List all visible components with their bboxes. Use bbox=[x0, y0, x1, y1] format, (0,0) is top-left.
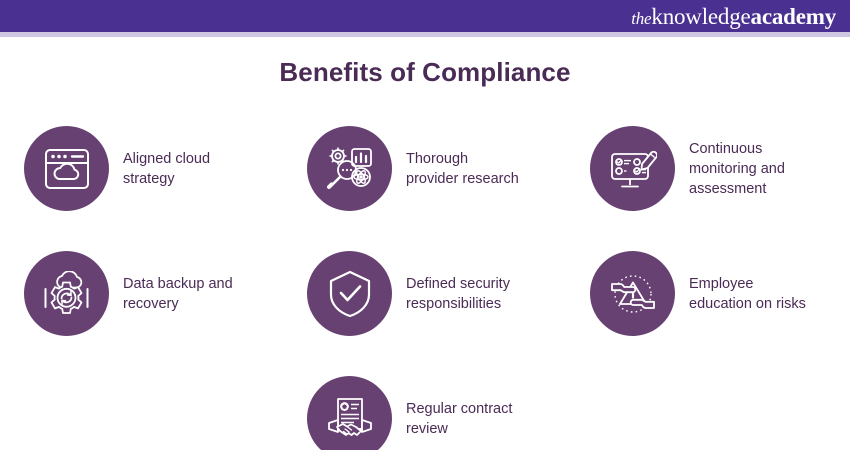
shield-check-icon bbox=[307, 251, 392, 336]
benefit-label: Data backup and recovery bbox=[123, 274, 233, 314]
brand-logo[interactable]: theknowledgeacademy bbox=[631, 5, 836, 28]
benefits-row: Regular contract review bbox=[0, 356, 850, 450]
benefits-row: Aligned cloud strategy bbox=[0, 106, 850, 231]
benefits-row: Data backup and recovery Defined securit… bbox=[0, 231, 850, 356]
browser-cloud-icon bbox=[24, 126, 109, 211]
logo-the-text: the bbox=[631, 9, 651, 28]
logo-academy-text: academy bbox=[751, 4, 836, 29]
benefit-item-aligned-cloud-strategy[interactable]: Aligned cloud strategy bbox=[0, 106, 283, 231]
gear-cloud-sync-icon bbox=[24, 251, 109, 336]
benefit-label: Defined security responsibilities bbox=[406, 274, 510, 314]
benefit-label: Employee education on risks bbox=[689, 274, 806, 314]
benefit-item-employee-education-on-risks[interactable]: Employee education on risks bbox=[566, 231, 849, 356]
contract-handshake-icon bbox=[307, 376, 392, 450]
benefit-label: Thorough provider research bbox=[406, 149, 519, 189]
magnifier-research-icon bbox=[307, 126, 392, 211]
benefit-item-regular-contract-review[interactable]: Regular contract review bbox=[283, 356, 566, 450]
benefit-label: Regular contract review bbox=[406, 399, 512, 439]
header-divider bbox=[0, 32, 850, 37]
benefit-label: Continuous monitoring and assessment bbox=[689, 139, 785, 199]
monitor-checklist-pencil-icon bbox=[590, 126, 675, 211]
logo-knowledge-text: knowledge bbox=[651, 4, 750, 29]
benefit-item-defined-security-responsibilities[interactable]: Defined security responsibilities bbox=[283, 231, 566, 356]
benefit-item-continuous-monitoring-and-assessment[interactable]: Continuous monitoring and assessment bbox=[566, 106, 849, 231]
hands-warning-icon bbox=[590, 251, 675, 336]
header-bar: theknowledgeacademy bbox=[0, 0, 850, 32]
page-title: Benefits of Compliance bbox=[0, 57, 850, 88]
benefit-item-data-backup-and-recovery[interactable]: Data backup and recovery bbox=[0, 231, 283, 356]
benefit-label: Aligned cloud strategy bbox=[123, 149, 210, 189]
benefit-item-thorough-provider-research[interactable]: Thorough provider research bbox=[283, 106, 566, 231]
benefits-grid: Aligned cloud strategy bbox=[0, 106, 850, 450]
